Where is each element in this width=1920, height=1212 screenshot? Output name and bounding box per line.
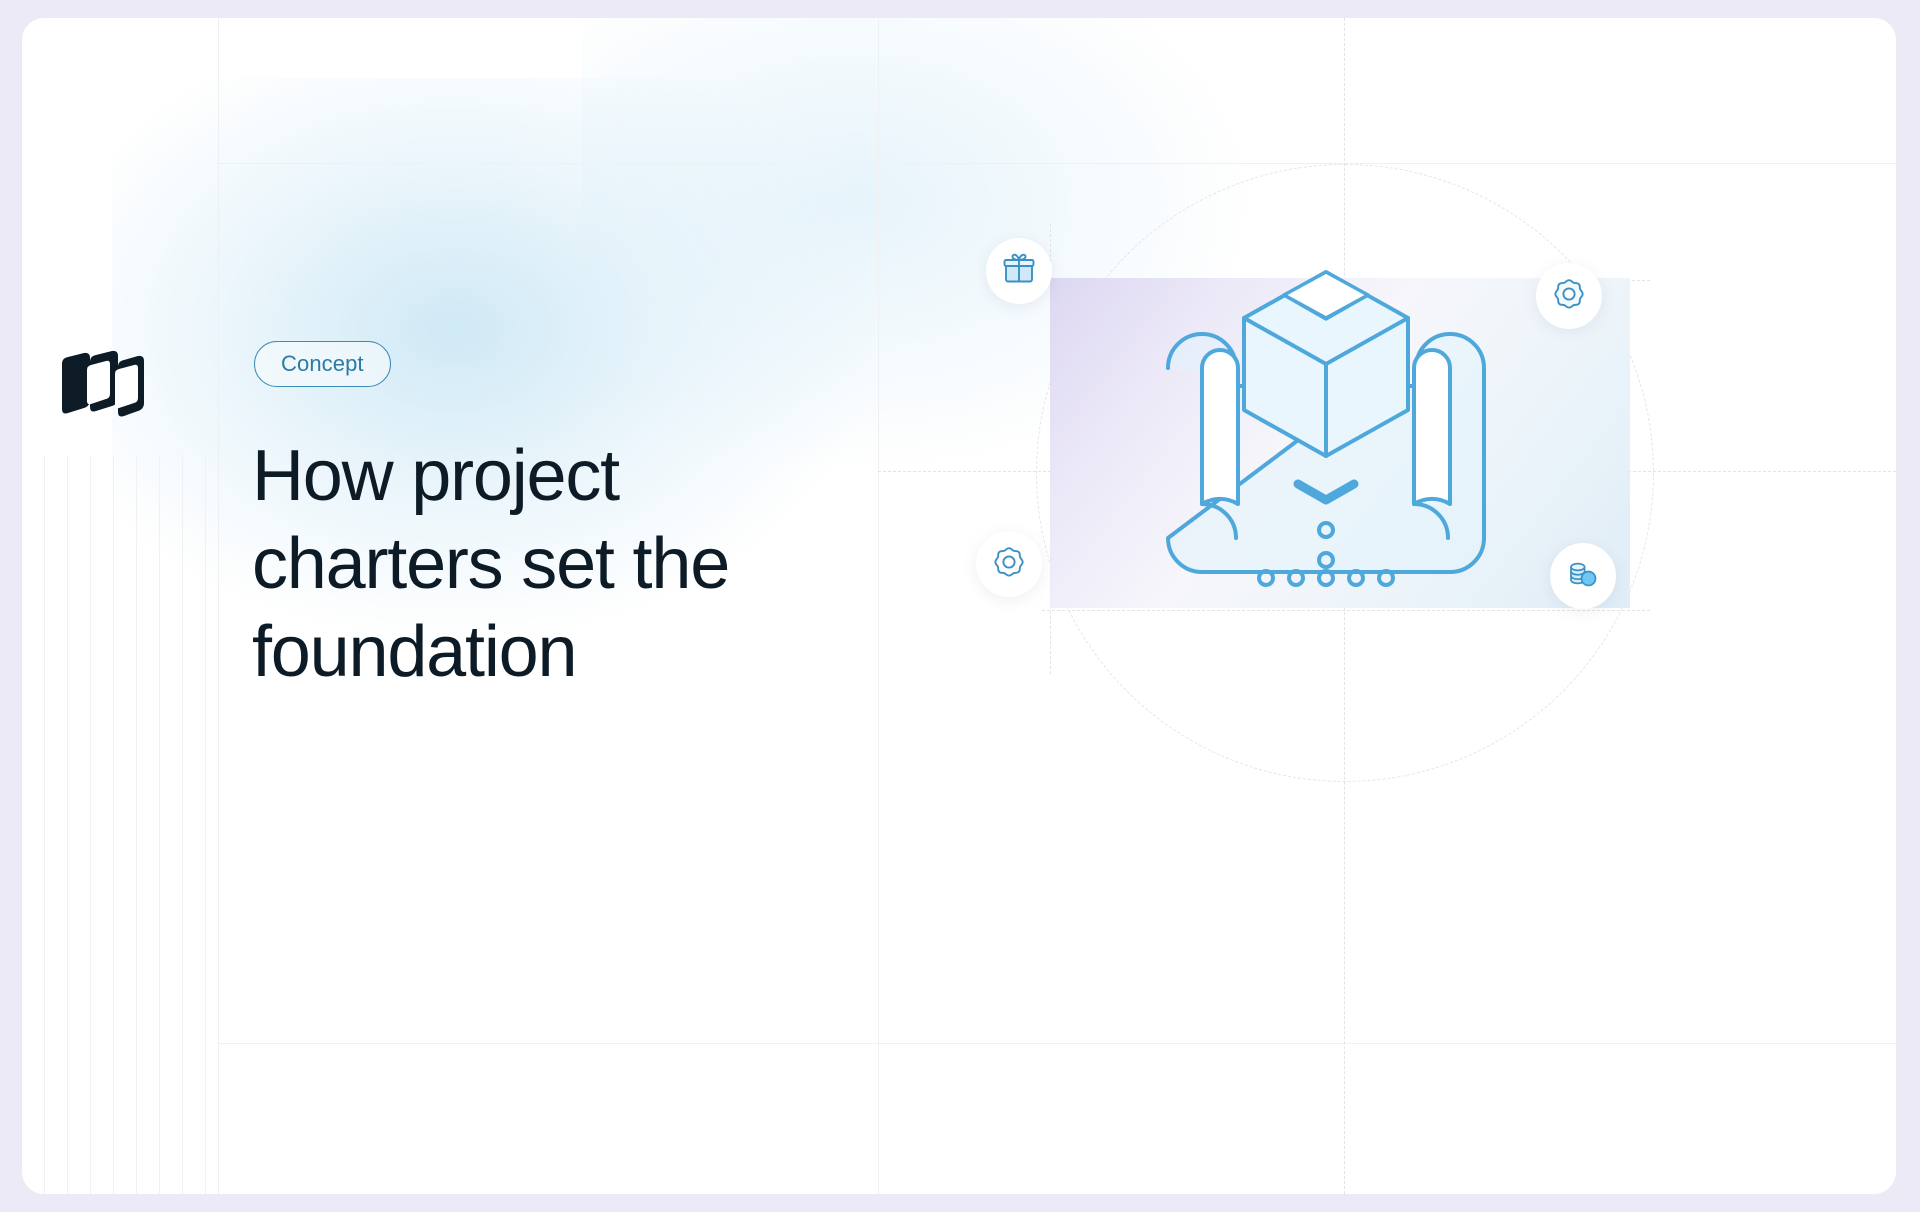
gift-icon <box>1002 252 1036 291</box>
gear-icon <box>992 545 1026 584</box>
article-header: Concept How project charters set the fou… <box>218 163 878 1043</box>
coins-icon-badge[interactable] <box>1550 543 1616 609</box>
page-title: How project charters set the foundation <box>252 433 852 696</box>
article-card: Concept How project charters set the fou… <box>22 18 1896 1194</box>
brand-logo[interactable] <box>56 350 150 422</box>
page-root: Concept How project charters set the fou… <box>0 0 1920 1212</box>
left-rail <box>22 18 218 1194</box>
vertical-stripes-pattern <box>22 455 218 1194</box>
coins-icon <box>1566 557 1600 596</box>
gift-icon-badge[interactable] <box>986 238 1052 304</box>
settings-icon-badge-top[interactable] <box>1536 263 1602 329</box>
illustration-panel <box>878 18 1896 1194</box>
settings-icon-badge-bottom[interactable] <box>976 531 1042 597</box>
blueprint-scroll-icon <box>1116 248 1536 648</box>
category-badge[interactable]: Concept <box>254 341 391 387</box>
gear-icon <box>1552 277 1586 316</box>
